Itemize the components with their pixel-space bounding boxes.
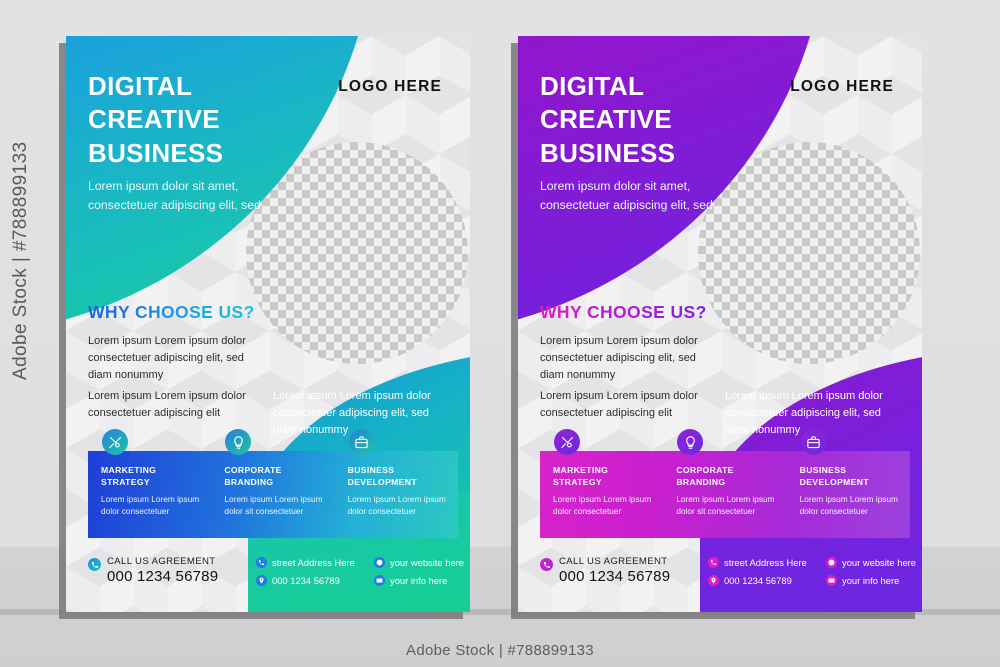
phone-icon — [708, 557, 719, 568]
service-card-marketing[interactable]: MARKETING STRATEGY Lorem ipsum Lorem ips… — [88, 451, 211, 538]
headline-line-3: BUSINESS — [88, 137, 223, 170]
headline-line-2: CREATIVE — [88, 103, 223, 136]
lightbulb-icon — [677, 429, 703, 455]
contact-phone[interactable]: 000 1234 56789 — [708, 575, 818, 586]
service-body: Lorem ipsum Lorem ipsum dolor sit consec… — [224, 493, 326, 517]
contact-email[interactable]: your info here — [374, 575, 470, 586]
contact-details-grid: street Address Here your website here 00… — [708, 557, 922, 586]
contact-label: street Address Here — [272, 557, 355, 568]
contact-address[interactable]: street Address Here — [708, 557, 818, 568]
headline-line-3: BUSINESS — [540, 137, 675, 170]
call-us-number: 000 1234 56789 — [107, 568, 218, 585]
briefcase-icon — [801, 429, 827, 455]
headline-line-1: DIGITAL — [540, 70, 675, 103]
envelope-icon — [374, 575, 385, 586]
flyer-subheadline: Lorem ipsum dolor sit amet, consectetuer… — [540, 177, 740, 215]
service-body: Lorem ipsum Lorem ipsum dolor consectetu… — [101, 493, 203, 517]
phone-icon — [88, 558, 101, 571]
service-title: MARKETING STRATEGY — [553, 465, 655, 488]
service-title: CORPORATE BRANDING — [224, 465, 326, 488]
service-card-development[interactable]: BUSINESS DEVELOPMENT Lorem ipsum Lorem i… — [787, 451, 910, 538]
contact-label: your website here — [390, 557, 464, 568]
logo-placeholder[interactable]: LOGO HERE — [338, 78, 442, 96]
contact-label: your info here — [390, 575, 447, 586]
phone-icon — [540, 558, 553, 571]
globe-icon — [374, 557, 385, 568]
headline-line-1: DIGITAL — [88, 70, 223, 103]
service-title: CORPORATE BRANDING — [676, 465, 778, 488]
logo-placeholder[interactable]: LOGO HERE — [790, 78, 894, 96]
why-paragraph-1: Lorem ipsum Lorem ipsum dolor consectetu… — [540, 333, 718, 384]
briefcase-icon — [349, 429, 375, 455]
tools-icon — [554, 429, 580, 455]
service-title: BUSINESS DEVELOPMENT — [800, 465, 902, 488]
flyer-footer: CALL US AGREEMENT 000 1234 56789 street … — [518, 540, 922, 612]
headline-line-2: CREATIVE — [540, 103, 675, 136]
contact-website[interactable]: your website here — [374, 557, 470, 568]
service-body: Lorem ipsum Lorem ipsum dolor consectetu… — [348, 493, 450, 517]
service-card-branding[interactable]: CORPORATE BRANDING Lorem ipsum Lorem ips… — [663, 451, 786, 538]
services-panel: MARKETING STRATEGY Lorem ipsum Lorem ips… — [540, 451, 910, 538]
why-paragraph-1: Lorem ipsum Lorem ipsum dolor consectetu… — [88, 333, 266, 384]
contact-website[interactable]: your website here — [826, 557, 922, 568]
call-us-number: 000 1234 56789 — [559, 568, 670, 585]
contact-details-grid: street Address Here your website here 00… — [256, 557, 470, 586]
call-us-label: CALL US AGREEMENT — [559, 556, 670, 567]
flyer-purple[interactable]: DIGITAL CREATIVE BUSINESS Lorem ipsum do… — [518, 36, 922, 612]
pin-icon — [708, 575, 719, 586]
watermark-side-label: Adobe Stock | #788899133 — [10, 120, 32, 380]
flyer-headline: DIGITAL CREATIVE BUSINESS — [88, 70, 223, 170]
call-us-label: CALL US AGREEMENT — [107, 556, 218, 567]
pin-icon — [256, 575, 267, 586]
contact-label: 000 1234 56789 — [724, 575, 792, 586]
why-choose-us-title: WHY CHOOSE US? — [88, 302, 255, 323]
contact-phone[interactable]: 000 1234 56789 — [256, 575, 366, 586]
service-title: MARKETING STRATEGY — [101, 465, 203, 488]
why-choose-us-title: WHY CHOOSE US? — [540, 302, 707, 323]
call-us-block[interactable]: CALL US AGREEMENT 000 1234 56789 — [540, 556, 670, 585]
lightbulb-icon — [225, 429, 251, 455]
contact-email[interactable]: your info here — [826, 575, 922, 586]
contact-address[interactable]: street Address Here — [256, 557, 366, 568]
service-title: BUSINESS DEVELOPMENT — [348, 465, 450, 488]
service-body: Lorem ipsum Lorem ipsum dolor sit consec… — [676, 493, 778, 517]
globe-icon — [826, 557, 837, 568]
envelope-icon — [826, 575, 837, 586]
why-paragraph-2: Lorem ipsum Lorem ipsum dolor consectetu… — [540, 388, 718, 422]
contact-label: your website here — [842, 557, 916, 568]
why-paragraph-2: Lorem ipsum Lorem ipsum dolor consectetu… — [88, 388, 266, 422]
phone-icon — [256, 557, 267, 568]
contact-label: 000 1234 56789 — [272, 575, 340, 586]
service-body: Lorem ipsum Lorem ipsum dolor consectetu… — [800, 493, 902, 517]
service-body: Lorem ipsum Lorem ipsum dolor consectetu… — [553, 493, 655, 517]
services-panel: MARKETING STRATEGY Lorem ipsum Lorem ips… — [88, 451, 458, 538]
contact-label: street Address Here — [724, 557, 807, 568]
flyer-blue[interactable]: DIGITAL CREATIVE BUSINESS Lorem ipsum do… — [66, 36, 470, 612]
tools-icon — [102, 429, 128, 455]
service-card-branding[interactable]: CORPORATE BRANDING Lorem ipsum Lorem ips… — [211, 451, 334, 538]
contact-label: your info here — [842, 575, 899, 586]
flyer-subheadline: Lorem ipsum dolor sit amet, consectetuer… — [88, 177, 288, 215]
call-us-block[interactable]: CALL US AGREEMENT 000 1234 56789 — [88, 556, 218, 585]
flyer-footer: CALL US AGREEMENT 000 1234 56789 street … — [66, 540, 470, 612]
watermark-bottom-label: Adobe Stock | #788899133 — [0, 642, 1000, 659]
service-card-development[interactable]: BUSINESS DEVELOPMENT Lorem ipsum Lorem i… — [335, 451, 458, 538]
flyer-headline: DIGITAL CREATIVE BUSINESS — [540, 70, 675, 170]
flyer-mockup-canvas: Adobe Stock | #788899133 DIGITAL CREATIV… — [0, 0, 1000, 667]
service-card-marketing[interactable]: MARKETING STRATEGY Lorem ipsum Lorem ips… — [540, 451, 663, 538]
